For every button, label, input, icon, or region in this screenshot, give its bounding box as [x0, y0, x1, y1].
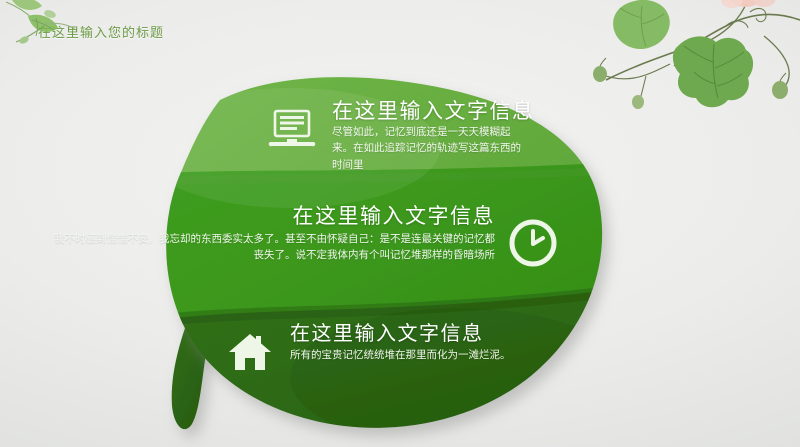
slide-canvas: 在这里输入您的标题: [0, 0, 800, 447]
home-icon: [227, 330, 273, 376]
laptop-icon: [268, 108, 316, 150]
clock-icon: [507, 217, 559, 269]
section-3-heading: 在这里输入文字信息: [290, 323, 520, 346]
section-3-body: 所有的宝贵记忆统统堆在那里而化为一滩烂泥。: [290, 347, 520, 363]
section-1-heading: 在这里输入文字信息: [332, 100, 532, 124]
section-2-text: 在这里输入文字信息 我不时感到惴惴不安。我忘却的东西委实太多了。甚至不由怀疑自己…: [45, 205, 495, 264]
page-title: 在这里输入您的标题: [38, 22, 164, 41]
section-1-text: 在这里输入文字信息 尽管如此，记忆到底还是一天天模糊起来。在如此追踪记忆的轨迹写…: [332, 100, 532, 173]
section-2-heading: 在这里输入文字信息: [45, 205, 495, 229]
section-1-body: 尽管如此，记忆到底还是一天天模糊起来。在如此追踪记忆的轨迹写这篇东西的时间里: [332, 124, 528, 173]
section-2-body: 我不时感到惴惴不安。我忘却的东西委实太多了。甚至不由怀疑自己：是不是连最关键的记…: [45, 231, 495, 264]
section-3-text: 在这里输入文字信息 所有的宝贵记忆统统堆在那里而化为一滩烂泥。: [290, 323, 520, 363]
